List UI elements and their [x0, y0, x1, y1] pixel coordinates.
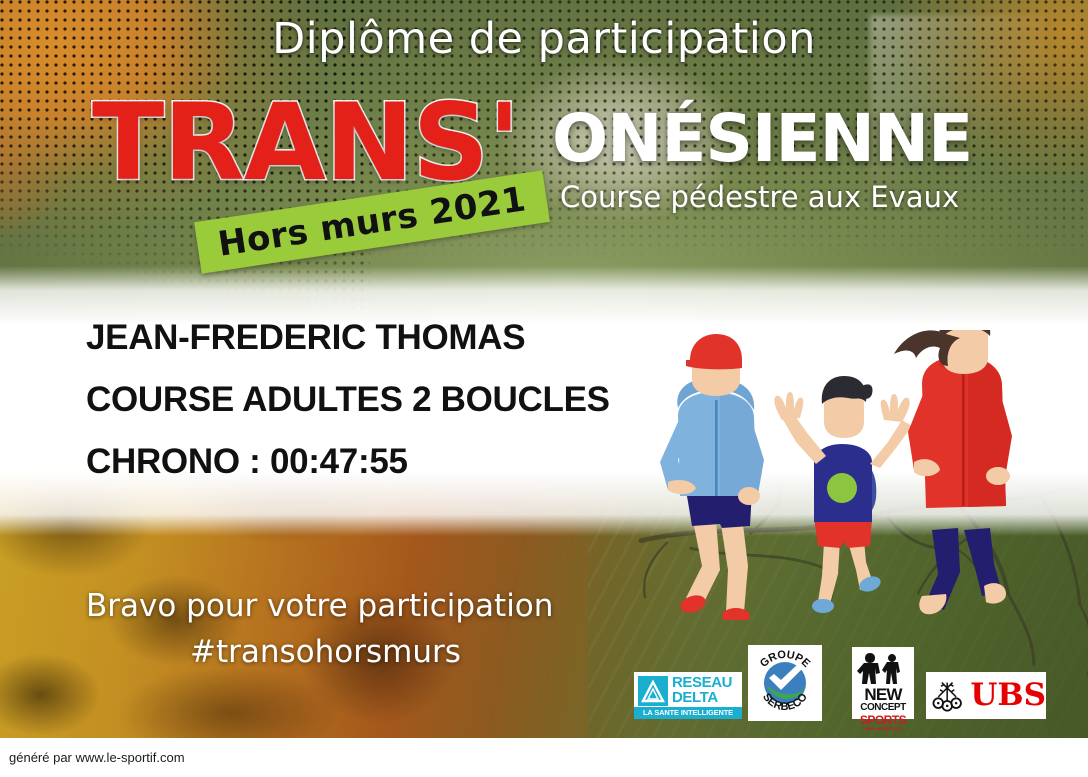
delta-triangle-icon — [638, 676, 668, 706]
sponsor-logo-ubs[interactable]: UBS — [926, 672, 1046, 719]
runners-illustration — [616, 330, 1088, 620]
ncs-line-sports: SPORTS — [854, 714, 912, 726]
runner-adult-female-figure — [894, 330, 1012, 614]
reseau-delta-tagline: LA SANTE INTELLIGENTE — [634, 707, 742, 720]
brand-onesienne: ONÉSIENNE — [552, 106, 972, 172]
page-title: Diplôme de participation — [0, 14, 1088, 64]
participation-diploma: Diplôme de participation TRANS' ONÉSIENN… — [0, 0, 1088, 777]
sponsor-logo-new-concept-sports[interactable]: NEW CONCEPT SPORTS www.ncsports.ch — [852, 647, 914, 719]
sponsor-logo-groupe-serbeco[interactable]: GROUPE SERBECO — [748, 645, 822, 721]
congratulations-line: Bravo pour votre participation — [86, 588, 706, 624]
serbeco-emblem-icon: GROUPE SERBECO — [748, 645, 822, 721]
congratulations-block: Bravo pour votre participation #transoho… — [86, 588, 706, 670]
runner-adult-male-figure — [660, 334, 764, 620]
two-runners-icon — [854, 649, 912, 687]
footer-bar: généré par www.le-sportif.com — [0, 738, 1088, 777]
ncs-line-concept: CONCEPT — [854, 703, 912, 713]
ncs-url: www.ncsports.ch — [854, 726, 912, 732]
footer-generated-by: généré par www.le-sportif.com — [0, 750, 185, 765]
sponsor-logo-reseau-delta[interactable]: RESEAU DELTA LA SANTE INTELLIGENTE — [634, 672, 742, 719]
runner-child-figure — [774, 376, 912, 613]
brand-trans: TRANS' — [92, 90, 519, 196]
hashtag-line: #transohorsmurs — [86, 634, 706, 670]
reseau-delta-line2: DELTA — [672, 691, 732, 706]
ubs-keys-icon — [932, 678, 962, 714]
event-subtitle: Course pédestre aux Evaux — [560, 180, 959, 214]
ncs-line-new: NEW — [854, 687, 912, 703]
sponsor-logos: RESEAU DELTA LA SANTE INTELLIGENTE GROUP… — [630, 645, 1050, 727]
ubs-wordmark: UBS — [970, 680, 1046, 711]
